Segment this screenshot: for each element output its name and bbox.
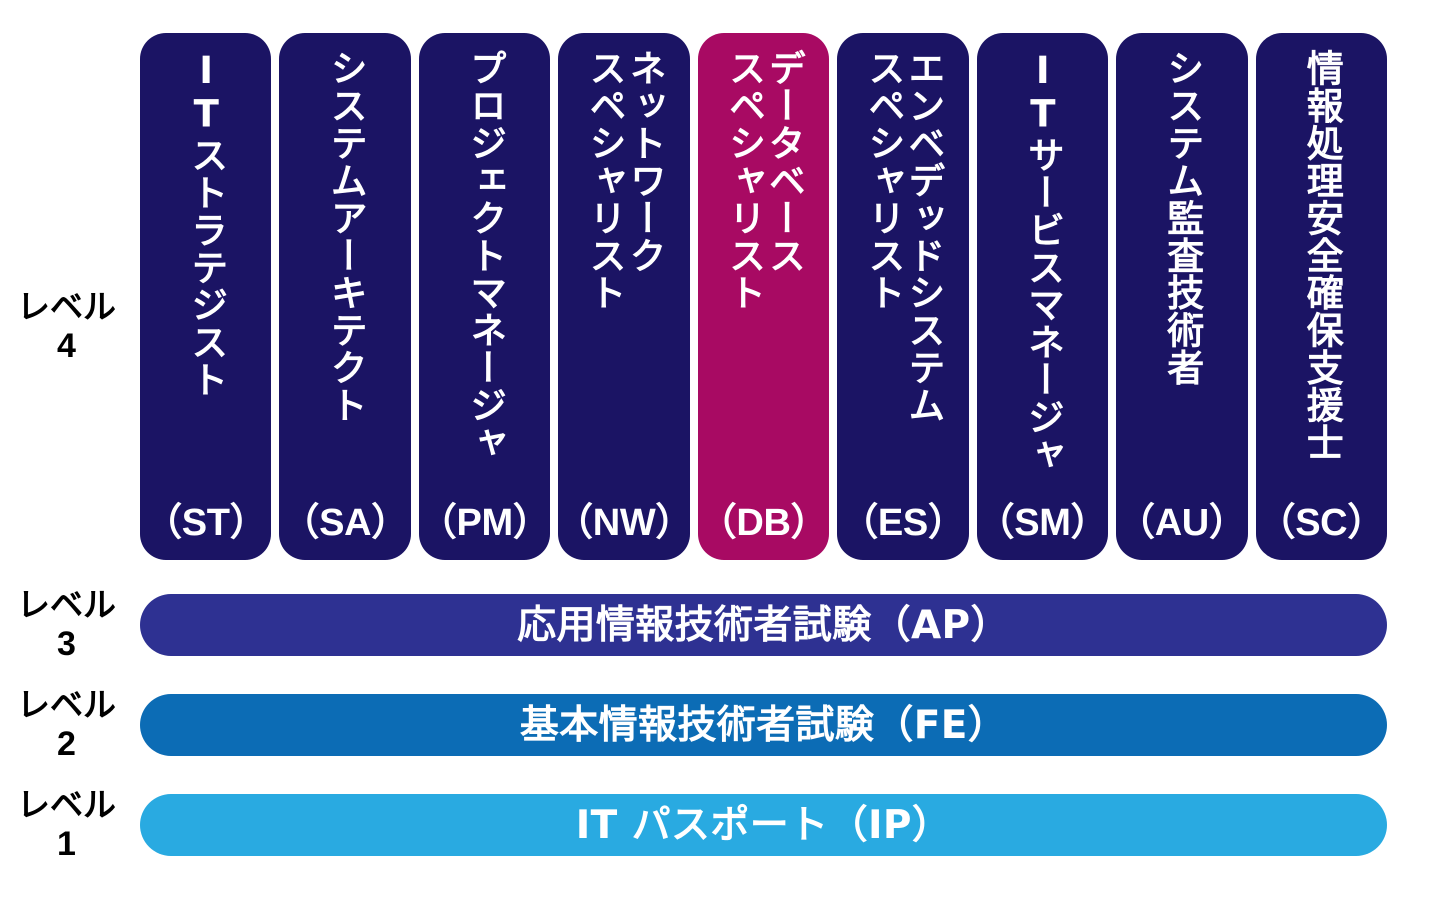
level-label-2-word: レベル [0,688,133,721]
level4-card-row: ITストラテジスト （ST） システムアーキテクト （SA） プロジェクトマネー… [140,33,1387,560]
level-label-3: レベル 3 [0,588,133,661]
level-label-4-word: レベル [0,290,133,323]
cert-card-nw[interactable]: ネットワーク スペシャリスト （NW） [558,33,689,560]
exam-bar-fe[interactable]: 基本情報技術者試験（FE） [140,694,1387,756]
level-label-1-word: レベル [0,788,133,821]
cert-card-au-code: （AU） [1117,504,1246,550]
cert-card-db[interactable]: データベース スペシャリスト （DB） [698,33,829,560]
cert-card-sm[interactable]: ITサービスマネージャ （SM） [977,33,1108,560]
level-label-2: レベル 2 [0,688,133,761]
cert-card-es[interactable]: エンベデッドシステム スペシャリスト （ES） [837,33,968,560]
cert-card-nw-title: ネットワーク スペシャリスト [584,49,664,504]
certification-level-diagram: レベル 4 レベル 3 レベル 2 レベル 1 ITストラテジスト （ST） シ… [0,0,1440,900]
cert-card-pm[interactable]: プロジェクトマネージャ （PM） [419,33,550,560]
cert-card-es-title: エンベデッドシステム スペシャリスト [863,49,943,504]
cert-card-pm-title: プロジェクトマネージャ [465,49,505,504]
level-label-4-number: 4 [0,329,133,363]
cert-card-es-code: （ES） [840,504,965,550]
cert-card-sc[interactable]: 情報処理安全確保支援士 （SC） [1256,33,1387,560]
exam-bar-ap[interactable]: 応用情報技術者試験（AP） [140,594,1387,656]
level-label-3-number: 3 [0,627,133,661]
cert-card-au-title: システム監査技術者 [1162,49,1202,504]
cert-card-sa-title: システムアーキテクト [325,49,365,504]
cert-card-db-title: データベース スペシャリスト [724,49,804,504]
level-label-4: レベル 4 [0,290,133,363]
cert-card-st-title: ITストラテジスト [186,49,226,504]
exam-bar-ip-label: IT パスポート（IP） [576,806,951,845]
cert-card-au[interactable]: システム監査技術者 （AU） [1116,33,1247,560]
exam-bar-fe-label: 基本情報技術者試験（FE） [520,706,1007,745]
exam-bar-ip[interactable]: IT パスポート（IP） [140,794,1387,856]
cert-card-sm-code: （SM） [977,504,1108,550]
cert-card-pm-code: （PM） [419,504,550,550]
cert-card-db-code: （DB） [699,504,828,550]
cert-card-st-code: （ST） [144,504,267,550]
cert-card-sc-code: （SC） [1258,504,1385,550]
level-label-3-word: レベル [0,588,133,621]
cert-card-sc-title: 情報処理安全確保支援士 [1301,49,1341,504]
level-label-2-number: 2 [0,727,133,761]
exam-bar-ap-label: 応用情報技術者試験（AP） [517,606,1010,645]
cert-card-sa-code: （SA） [282,504,409,550]
cert-card-sm-title: ITサービスマネージャ [1022,49,1062,504]
level-label-1-number: 1 [0,827,133,861]
cert-card-nw-code: （NW） [558,504,689,550]
level-label-1: レベル 1 [0,788,133,861]
cert-card-st[interactable]: ITストラテジスト （ST） [140,33,271,560]
cert-card-sa[interactable]: システムアーキテクト （SA） [279,33,410,560]
